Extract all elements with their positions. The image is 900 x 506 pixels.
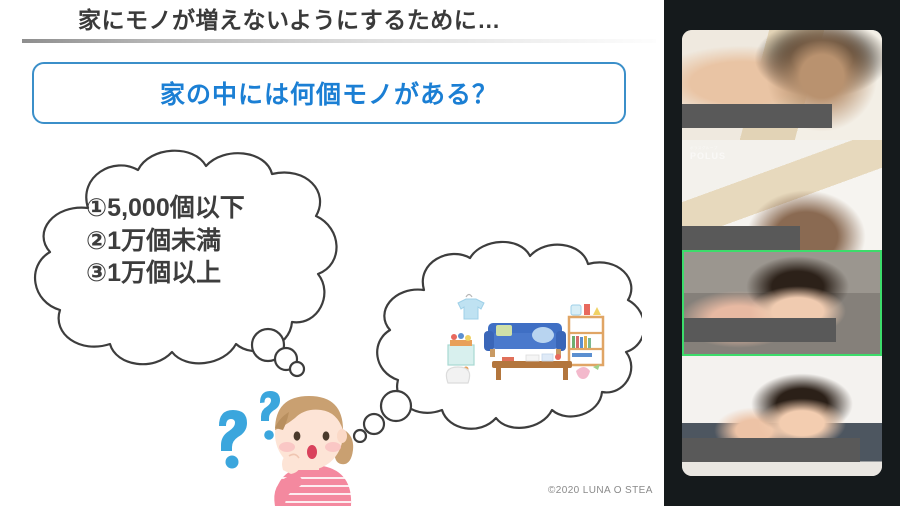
video-tile-3-active-speaker[interactable] (682, 250, 882, 356)
participant-name-bar (682, 438, 860, 462)
mouth (307, 445, 317, 459)
screen: 家にモノが増えないようにするために… 家の中には何個モノがある？ ①5,000個… (0, 0, 900, 506)
toy-box-icon (448, 333, 474, 372)
option-item-2: ②1万個未満 (86, 225, 346, 258)
polus-watermark: ポラスグループ POLUS (690, 146, 726, 161)
question-box: 家の中には何個モノがある？ (32, 62, 626, 124)
toy-icon (576, 367, 590, 379)
presentation-slide: 家にモノが増えないようにするために… 家の中には何個モノがある？ ①5,000個… (0, 0, 664, 506)
video-tile-2[interactable]: ポラスグループ POLUS (682, 140, 882, 250)
question-mark-icon (219, 410, 247, 469)
video-conference-panel: ポラスグループ POLUS (664, 0, 900, 506)
clothes-hanger-icon (458, 295, 484, 320)
copyright-text: ©2020 LUNA O STEA (548, 485, 653, 496)
participant-name-bar (684, 318, 836, 342)
table-icon (492, 354, 572, 380)
thinking-woman-illustration (205, 378, 370, 506)
room-illustration (430, 285, 610, 395)
option-item-1: ①5,000個以下 (86, 192, 346, 225)
title-divider (22, 39, 656, 43)
slide-title: 家にモノが増えないようにするために… (78, 4, 638, 36)
participant-name-bar (682, 104, 832, 128)
bookshelf-icon (569, 304, 603, 365)
option-item-3: ③1万個以上 (86, 257, 346, 290)
video-tile-1[interactable] (682, 30, 882, 140)
cushion-icon (446, 367, 469, 383)
eye-left (294, 431, 301, 440)
eye-right (323, 431, 330, 440)
video-tile-stack: ポラスグループ POLUS (682, 30, 882, 476)
video-tile-4[interactable] (682, 356, 882, 476)
options-list: ①5,000個以下 ②1万個未満 ③1万個以上 (86, 192, 346, 290)
question-text: 家の中には何個モノがある？ (160, 75, 498, 111)
participant-name-bar (682, 226, 800, 250)
sofa-icon (484, 323, 566, 357)
